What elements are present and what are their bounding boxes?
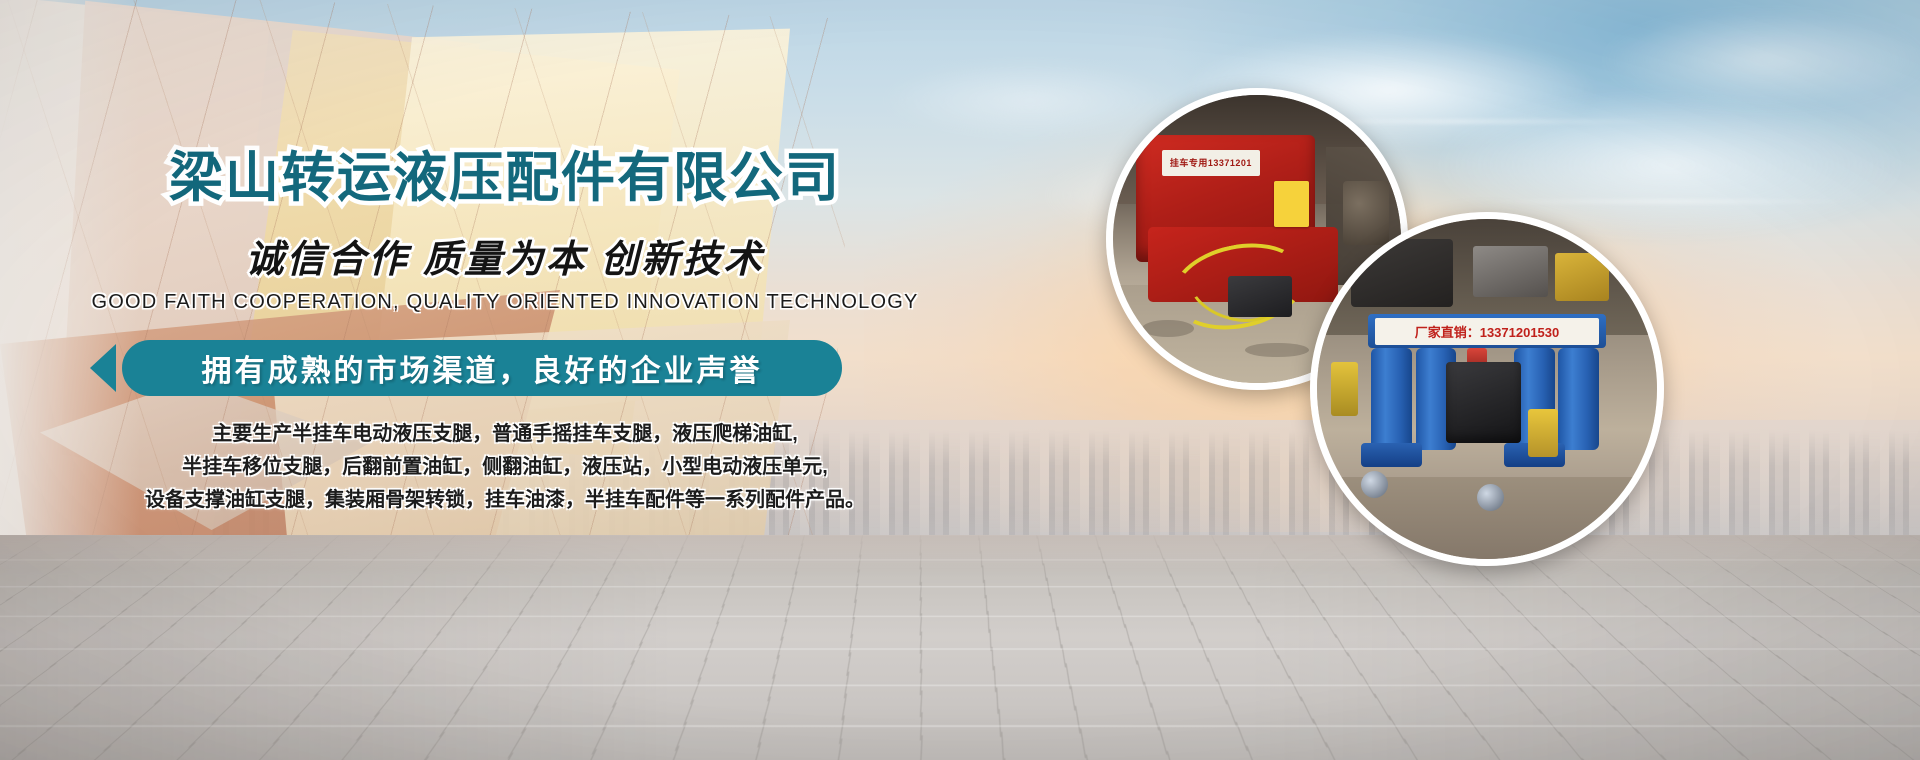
blue-machine-control-box (1446, 362, 1521, 444)
blue-photo-equipment-2 (1473, 246, 1548, 297)
red-machine-pump-unit (1228, 276, 1291, 316)
blue-machine-post-4 (1558, 348, 1599, 450)
hero-banner: 梁山转运液压配件有限公司 梁山转运液压配件有限公司 诚信合作 质量为本 创新技术… (0, 0, 1920, 760)
blue-machine-caster-1 (1361, 471, 1388, 498)
blue-machine-foot-1 (1361, 443, 1422, 467)
plaza-shading (0, 535, 1920, 760)
red-machine-yellow-tag (1274, 181, 1309, 227)
phone-number-banner: 厂家直销：13371201530 (1375, 318, 1599, 345)
description-line-3: 设备支撑油缸支腿，集装厢骨架转锁，挂车油漆，半挂车配件等一系列配件产品。 (0, 484, 1010, 517)
company-title-fill: 梁山转运液压配件有限公司 (0, 150, 1010, 207)
highlight-bar-arrow-icon (90, 344, 116, 392)
highlight-bar: 拥有成熟的市场渠道，良好的企业声誉 (122, 340, 842, 396)
blue-hydraulic-lift-photo: 厂家直销：13371201530 (1310, 212, 1664, 566)
slogan-english: GOOD FAITH COOPERATION, QUALITY ORIENTED… (0, 291, 1010, 314)
cloud-4 (1600, 10, 1920, 110)
description-line-1: 主要生产半挂车电动液压支腿，普通手摇挂车支腿，液压爬梯油缸, (0, 418, 1010, 451)
blue-machine-post-1 (1371, 348, 1412, 450)
highlight-bar-text: 拥有成熟的市场渠道，良好的企业声誉 (202, 346, 763, 390)
company-title: 梁山转运液压配件有限公司 梁山转运液压配件有限公司 (0, 150, 1010, 212)
blue-machine-yellow-part-left (1331, 362, 1358, 416)
description-line-2: 半挂车移位支腿，后翻前置油缸，侧翻油缸，液压站，小型电动液压单元, (0, 451, 1010, 484)
red-photo-ground-spot-1 (1142, 320, 1194, 337)
foreground-plaza (0, 535, 1920, 760)
banner-text-block: 梁山转运液压配件有限公司 梁山转运液压配件有限公司 诚信合作 质量为本 创新技术… (0, 150, 1010, 517)
blue-machine-yellow-part-right (1528, 409, 1559, 457)
description-paragraph: 主要生产半挂车电动液压支腿，普通手摇挂车支腿，液压爬梯油缸, 半挂车移位支腿，后… (0, 418, 1010, 517)
slogan-chinese: 诚信合作 质量为本 创新技术 (0, 228, 1010, 283)
highlight-bar-wrapper: 拥有成熟的市场渠道，良好的企业声誉 (0, 340, 1010, 396)
blue-photo-equipment-3 (1555, 253, 1609, 301)
cloud-streak-2 (1480, 200, 1860, 203)
red-photo-ground-spot-2 (1245, 343, 1308, 357)
red-machine-label: 挂车专用13371201 (1162, 150, 1260, 176)
blue-photo-equipment-1 (1351, 239, 1453, 307)
